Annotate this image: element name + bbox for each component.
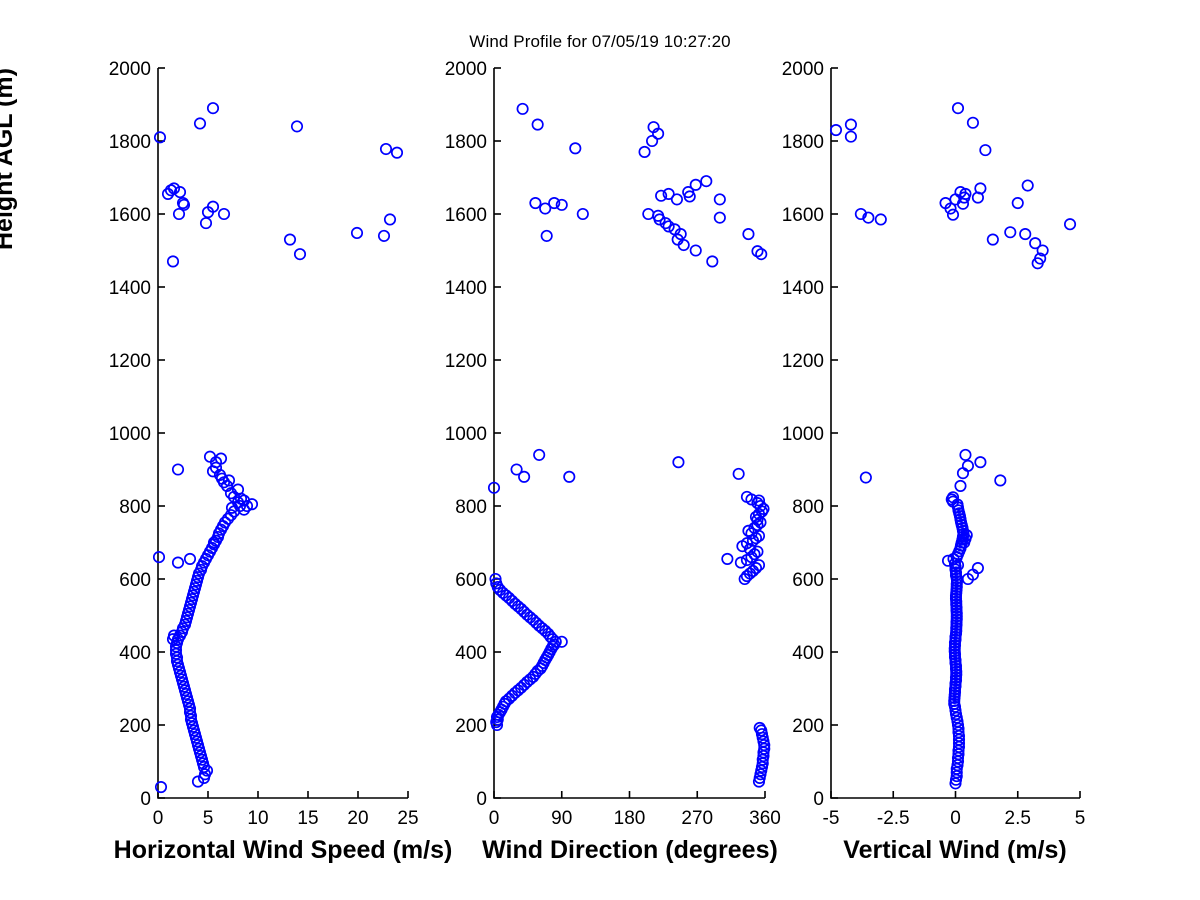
data-point bbox=[519, 472, 529, 482]
y-tick-label: 1600 bbox=[445, 205, 487, 226]
data-point bbox=[743, 229, 753, 239]
data-point bbox=[736, 557, 746, 567]
y-tick-label: 0 bbox=[140, 789, 151, 810]
data-point bbox=[722, 554, 732, 564]
y-tick-label: 400 bbox=[455, 643, 487, 664]
data-point bbox=[953, 103, 963, 113]
y-tick-label: 600 bbox=[792, 570, 824, 591]
data-series bbox=[831, 103, 1075, 789]
data-point bbox=[557, 200, 567, 210]
data-point bbox=[963, 461, 973, 471]
data-point bbox=[173, 464, 183, 474]
y-tick-label: 1200 bbox=[109, 351, 151, 372]
data-point bbox=[285, 234, 295, 244]
x-tick-label: 15 bbox=[297, 808, 318, 829]
data-point bbox=[385, 214, 395, 224]
x-tick-label: 180 bbox=[614, 808, 646, 829]
data-point bbox=[570, 143, 580, 153]
data-point bbox=[995, 475, 1005, 485]
y-tick-label: 1400 bbox=[782, 278, 824, 299]
data-point bbox=[707, 256, 717, 266]
data-point bbox=[195, 118, 205, 128]
data-point bbox=[534, 450, 544, 460]
data-point bbox=[352, 228, 362, 238]
data-point bbox=[955, 481, 965, 491]
y-tick-label: 1200 bbox=[445, 351, 487, 372]
data-point bbox=[691, 245, 701, 255]
data-point bbox=[701, 176, 711, 186]
data-point bbox=[733, 469, 743, 479]
y-tick-label: 400 bbox=[119, 643, 151, 664]
data-point bbox=[968, 118, 978, 128]
data-point bbox=[960, 450, 970, 460]
data-point bbox=[846, 131, 856, 141]
data-point bbox=[1065, 219, 1075, 229]
data-point bbox=[876, 214, 886, 224]
data-point bbox=[673, 457, 683, 467]
data-point bbox=[975, 457, 985, 467]
data-point bbox=[958, 468, 968, 478]
x-tick-label: 5 bbox=[203, 808, 214, 829]
x-tick-label: 270 bbox=[681, 808, 713, 829]
data-point bbox=[295, 249, 305, 259]
x-tick-label: -2.5 bbox=[877, 808, 910, 829]
data-point bbox=[201, 218, 211, 228]
data-point bbox=[831, 125, 841, 135]
x-tick-label: 20 bbox=[347, 808, 368, 829]
data-point bbox=[185, 554, 195, 564]
data-point bbox=[174, 209, 184, 219]
x-tick-label: 90 bbox=[551, 808, 572, 829]
y-tick-label: 1400 bbox=[109, 278, 151, 299]
data-point bbox=[861, 472, 871, 482]
data-point bbox=[530, 198, 540, 208]
plot-area-horizontal-wind-speed: 0200400600800100012001400160018002000051… bbox=[158, 68, 468, 858]
x-tick-label: 10 bbox=[247, 808, 268, 829]
panel-horizontal-wind-speed: 0200400600800100012001400160018002000051… bbox=[158, 68, 468, 858]
x-tick-label: 5 bbox=[1075, 808, 1086, 829]
wind-profile-figure: Wind Profile for 07/05/19 10:27:20 Heigh… bbox=[0, 0, 1200, 900]
y-tick-label: 1000 bbox=[109, 424, 151, 445]
y-tick-label: 1000 bbox=[445, 424, 487, 445]
data-point bbox=[980, 145, 990, 155]
data-point bbox=[1020, 229, 1030, 239]
y-axis-label: Height AGL (m) bbox=[0, 68, 19, 250]
y-tick-label: 200 bbox=[792, 716, 824, 737]
data-point bbox=[988, 234, 998, 244]
y-tick-label: 0 bbox=[476, 789, 487, 810]
data-point bbox=[715, 212, 725, 222]
data-point bbox=[219, 209, 229, 219]
data-point bbox=[653, 211, 663, 221]
y-tick-label: 600 bbox=[455, 570, 487, 591]
y-tick-label: 2000 bbox=[445, 59, 487, 80]
y-tick-label: 1400 bbox=[445, 278, 487, 299]
y-tick-label: 1000 bbox=[782, 424, 824, 445]
figure-title: Wind Profile for 07/05/19 10:27:20 bbox=[0, 32, 1200, 52]
data-point bbox=[643, 209, 653, 219]
data-point bbox=[846, 119, 856, 129]
x-tick-label: 0 bbox=[153, 808, 164, 829]
y-tick-label: 200 bbox=[119, 716, 151, 737]
data-point bbox=[292, 121, 302, 131]
y-tick-label: 1800 bbox=[782, 132, 824, 153]
data-point bbox=[639, 147, 649, 157]
x-tick-label: -5 bbox=[823, 808, 840, 829]
data-point bbox=[392, 147, 402, 157]
y-tick-label: 600 bbox=[119, 570, 151, 591]
data-point bbox=[532, 119, 542, 129]
data-point bbox=[1023, 180, 1033, 190]
data-point bbox=[564, 472, 574, 482]
y-tick-label: 1600 bbox=[109, 205, 151, 226]
x-tick-label: 0 bbox=[489, 808, 500, 829]
plot-area-wind-direction: 0200400600800100012001400160018002000090… bbox=[494, 68, 825, 858]
data-point bbox=[1005, 227, 1015, 237]
data-point bbox=[208, 103, 218, 113]
y-tick-label: 800 bbox=[792, 497, 824, 518]
data-point bbox=[541, 231, 551, 241]
y-tick-label: 2000 bbox=[109, 59, 151, 80]
x-axis-label-horizontal-wind-speed: Horizontal Wind Speed (m/s) bbox=[88, 836, 478, 865]
y-tick-label: 800 bbox=[119, 497, 151, 518]
x-axis-label-vertical-wind: Vertical Wind (m/s) bbox=[800, 836, 1110, 865]
x-tick-label: 360 bbox=[749, 808, 781, 829]
data-point bbox=[691, 180, 701, 190]
plot-area-vertical-wind: 0200400600800100012001400160018002000-5-… bbox=[831, 68, 1140, 858]
data-point bbox=[173, 557, 183, 567]
y-tick-label: 1600 bbox=[782, 205, 824, 226]
data-point bbox=[578, 209, 588, 219]
y-tick-label: 0 bbox=[813, 789, 824, 810]
data-point bbox=[715, 194, 725, 204]
y-tick-label: 200 bbox=[455, 716, 487, 737]
x-axis-label-wind-direction: Wind Direction (degrees) bbox=[446, 836, 814, 865]
data-point bbox=[663, 189, 673, 199]
data-point bbox=[540, 203, 550, 213]
x-tick-label: 0 bbox=[950, 808, 961, 829]
panel-wind-direction: 0200400600800100012001400160018002000090… bbox=[494, 68, 825, 858]
data-series bbox=[489, 104, 770, 787]
y-tick-label: 2000 bbox=[782, 59, 824, 80]
axis-lines bbox=[494, 68, 765, 798]
data-point bbox=[168, 256, 178, 266]
x-tick-label: 2.5 bbox=[1005, 808, 1031, 829]
data-point bbox=[517, 104, 527, 114]
y-tick-label: 800 bbox=[455, 497, 487, 518]
data-point bbox=[379, 231, 389, 241]
data-point bbox=[948, 210, 958, 220]
data-point bbox=[381, 144, 391, 154]
y-tick-label: 1200 bbox=[782, 351, 824, 372]
y-tick-label: 400 bbox=[792, 643, 824, 664]
data-series bbox=[154, 103, 402, 792]
data-point bbox=[154, 552, 164, 562]
x-tick-label: 25 bbox=[397, 808, 418, 829]
axis-lines bbox=[158, 68, 408, 798]
panel-vertical-wind: 0200400600800100012001400160018002000-5-… bbox=[831, 68, 1140, 858]
data-point bbox=[1013, 198, 1023, 208]
data-point bbox=[656, 191, 666, 201]
y-tick-label: 1800 bbox=[445, 132, 487, 153]
y-tick-label: 1800 bbox=[109, 132, 151, 153]
